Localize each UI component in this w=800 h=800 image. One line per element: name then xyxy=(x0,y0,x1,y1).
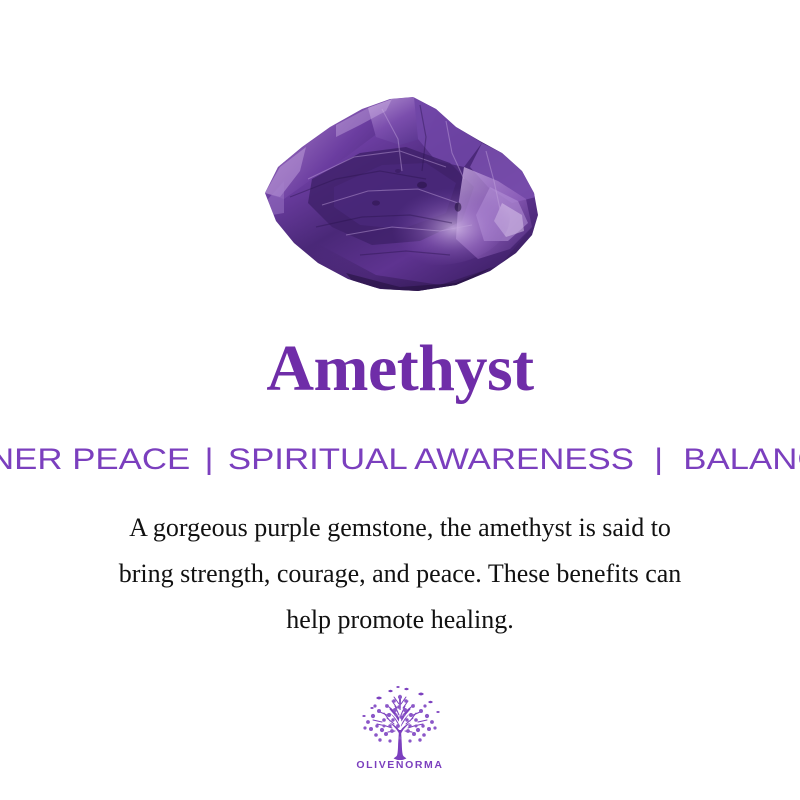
keyword-balance: BALANCE xyxy=(683,443,800,476)
keyword-separator: | xyxy=(644,443,674,477)
keyword-list: INNER PEACE | SPIRITUAL AWARENESS | BALA… xyxy=(0,443,800,477)
amethyst-info-card: Amethyst INNER PEACE | SPIRITUAL AWARENE… xyxy=(0,0,800,800)
description-line: help promote healing. xyxy=(50,597,750,643)
amethyst-crystal-graphic xyxy=(250,75,550,300)
brand-wordmark: OLIVENORMA xyxy=(332,759,468,771)
page-title: Amethyst xyxy=(0,336,800,402)
keyword-spiritual-awareness: SPIRITUAL AWARENESS xyxy=(228,443,634,476)
amethyst-crystal-image xyxy=(250,75,550,300)
tree-of-life-icon xyxy=(332,682,468,762)
description-text: A gorgeous purple gemstone, the amethyst… xyxy=(50,505,750,643)
brand-logo: OLIVENORMA xyxy=(332,682,468,782)
description-line: bring strength, courage, and peace. Thes… xyxy=(50,551,750,597)
keyword-inner-peace: INNER PEACE xyxy=(0,443,190,476)
description-line: A gorgeous purple gemstone, the amethyst… xyxy=(50,505,750,551)
keyword-separator: | xyxy=(200,443,218,477)
